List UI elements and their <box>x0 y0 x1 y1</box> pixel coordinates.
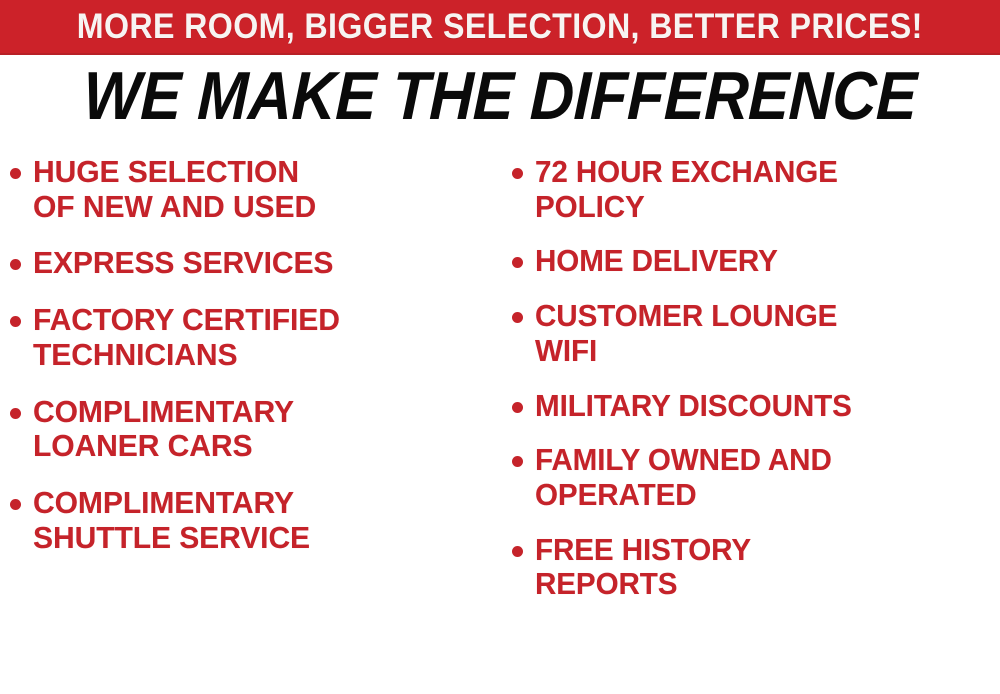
page-title: WE MAKE THE DIFFERENCE <box>0 62 1000 130</box>
bullet-dot-icon <box>10 499 21 510</box>
list-item-label: CUSTOMER LOUNGE WIFI <box>535 299 979 368</box>
list-item: HOME DELIVERY <box>512 244 1000 279</box>
list-item: COMPLIMENTARY LOANER CARS <box>10 395 500 464</box>
list-item-label: 72 HOUR EXCHANGE POLICY <box>535 155 979 224</box>
bullet-dot-icon <box>512 402 523 413</box>
list-item: 72 HOUR EXCHANGE POLICY <box>512 155 1000 224</box>
page-title-text: WE MAKE THE DIFFERENCE <box>82 62 917 130</box>
list-item-label: EXPRESS SERVICES <box>33 246 486 281</box>
list-item: COMPLIMENTARY SHUTTLE SERVICE <box>10 486 500 555</box>
list-item-label: HUGE SELECTION OF NEW AND USED <box>33 155 486 224</box>
top-banner: MORE ROOM, BIGGER SELECTION, BETTER PRIC… <box>0 0 1000 55</box>
list-item-label: MILITARY DISCOUNTS <box>535 389 979 424</box>
bullet-dot-icon <box>512 312 523 323</box>
list-item: MILITARY DISCOUNTS <box>512 389 1000 424</box>
benefits-column-right: 72 HOUR EXCHANGE POLICY HOME DELIVERY CU… <box>512 155 1000 622</box>
list-item-label: FAMILY OWNED AND OPERATED <box>535 443 979 512</box>
list-item-label: FREE HISTORY REPORTS <box>535 533 979 602</box>
bullet-dot-icon <box>10 259 21 270</box>
promotional-poster: MORE ROOM, BIGGER SELECTION, BETTER PRIC… <box>0 0 1000 694</box>
list-item: FAMILY OWNED AND OPERATED <box>512 443 1000 512</box>
list-item: FACTORY CERTIFIED TECHNICIANS <box>10 303 500 372</box>
list-item-label: FACTORY CERTIFIED TECHNICIANS <box>33 303 486 372</box>
bullet-dot-icon <box>10 168 21 179</box>
list-item: CUSTOMER LOUNGE WIFI <box>512 299 1000 368</box>
bullet-dot-icon <box>512 546 523 557</box>
bullet-dot-icon <box>512 456 523 467</box>
list-item-label: COMPLIMENTARY LOANER CARS <box>33 395 486 464</box>
list-item-label: HOME DELIVERY <box>535 244 979 279</box>
bullet-dot-icon <box>10 316 21 327</box>
benefits-columns: HUGE SELECTION OF NEW AND USED EXPRESS S… <box>0 155 1000 694</box>
benefits-column-left: HUGE SELECTION OF NEW AND USED EXPRESS S… <box>10 155 500 577</box>
list-item: FREE HISTORY REPORTS <box>512 533 1000 602</box>
list-item: EXPRESS SERVICES <box>10 246 500 281</box>
bullet-dot-icon <box>512 168 523 179</box>
list-item-label: COMPLIMENTARY SHUTTLE SERVICE <box>33 486 486 555</box>
banner-headline-text: MORE ROOM, BIGGER SELECTION, BETTER PRIC… <box>77 9 923 44</box>
bullet-dot-icon <box>10 408 21 419</box>
list-item: HUGE SELECTION OF NEW AND USED <box>10 155 500 224</box>
bullet-dot-icon <box>512 257 523 268</box>
